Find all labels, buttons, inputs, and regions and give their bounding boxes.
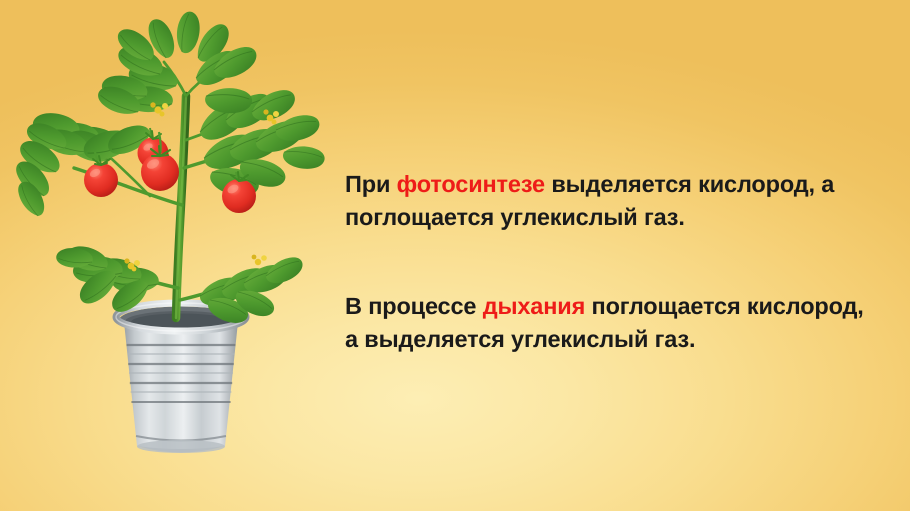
branch-mid-right	[184, 86, 327, 265]
bucket-body	[124, 322, 238, 451]
plant-crown-foliage	[94, 9, 261, 122]
keyword-photosynthesis: фотосинтезе	[397, 171, 545, 197]
tomato-plant-illustration	[0, 0, 330, 511]
flower-cluster-lower-right	[252, 255, 267, 266]
keyword-respiration: дыхания	[483, 293, 585, 319]
slide-text-block: При фотосинтезе выделяется кислород, а п…	[345, 168, 865, 356]
paragraph-respiration: В процессе дыхания поглощается кислород,…	[345, 290, 865, 356]
paragraph-photosynthesis: При фотосинтезе выделяется кислород, а п…	[345, 168, 865, 234]
metal-bucket	[116, 303, 246, 453]
tomato-plant-svg	[0, 0, 330, 511]
slide-canvas: При фотосинтезе выделяется кислород, а п…	[0, 0, 910, 511]
paragraph-1-before: При	[345, 171, 397, 197]
paragraph-2-before: В процессе	[345, 293, 483, 319]
